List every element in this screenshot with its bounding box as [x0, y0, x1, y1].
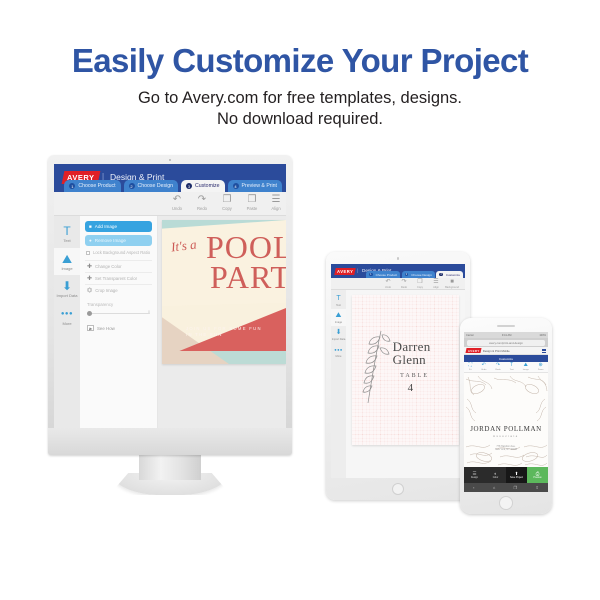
design-subtext[interactable]: JOIN US FOR SOME FUN IN THE SUN: [186, 326, 262, 338]
phone-action-bar: ☰ Design ◐ Color ⬆ Save Project ⎙ Previe…: [464, 467, 548, 483]
carrier-label: Carrier: [466, 334, 474, 337]
app-toolbar: ↶ Undo ↷ Redo ❐ Copy ❐ Paste: [54, 192, 286, 216]
tab-choose-product[interactable]: 1 Choose Product: [366, 271, 400, 278]
tab-label: Choose Design: [411, 273, 432, 277]
rail-label: Image: [54, 267, 80, 272]
avery-logo[interactable]: AVERY: [465, 348, 481, 353]
slider-knob[interactable]: [87, 311, 92, 316]
phone-tool-text[interactable]: T Text: [510, 363, 514, 371]
text-tool-icon: T: [54, 225, 80, 238]
tablet-step-tabs: 1 Choose Product 2 Choose Design 3 Custo…: [366, 271, 463, 278]
tool-label: Text: [510, 369, 514, 371]
crop-image-row[interactable]: ⏣ Crop Image: [85, 284, 152, 296]
tab-choose-design[interactable]: 2 Choose Design: [124, 180, 178, 192]
more-icon: ●●●: [331, 346, 346, 354]
phone-action-preview[interactable]: ⎙ Preview: [527, 467, 548, 483]
image-tool-icon: ⛰: [54, 253, 80, 266]
back-icon[interactable]: ‹: [473, 485, 474, 490]
toolbar-label: Align: [261, 206, 286, 211]
design-canvas[interactable]: It's a POOL PARTY JOIN US FOR SOME FUN I…: [158, 216, 286, 428]
text-icon: T: [510, 363, 514, 369]
import-data-icon: ⬇: [54, 280, 80, 293]
botanical-illustration-icon: [464, 373, 548, 467]
tab-customize[interactable]: 3 Customize: [436, 271, 463, 278]
zoom-icon: ⊕: [538, 363, 544, 369]
tablet-app-header: AVERY | Design & Print 1 Choose Product …: [331, 264, 465, 278]
monitor-stand-neck: [139, 452, 201, 480]
tool-label: Redo: [495, 369, 500, 371]
rail-label: More: [331, 355, 346, 358]
save-icon: ⬆: [515, 471, 519, 476]
play-icon: ▶: [87, 325, 94, 331]
redo-icon: ↷: [495, 363, 500, 369]
rail-item-text[interactable]: T Text: [54, 220, 80, 248]
phone-tool-fit[interactable]: ⛶ Fit: [469, 363, 473, 371]
phone-tool-undo[interactable]: ↶ Undo: [481, 363, 486, 371]
webcam-icon: [169, 159, 171, 161]
rail-item-image[interactable]: ⛰ Image: [54, 248, 80, 276]
align-icon: ☰: [261, 194, 286, 206]
design-icon: ☰: [472, 471, 476, 476]
promo-graphic: Easily Customize Your Project Go to Aver…: [0, 0, 600, 600]
phone-tool-redo[interactable]: ↷ Redo: [495, 363, 500, 371]
transparency-label: Transparency: [87, 302, 150, 307]
phone-action-color[interactable]: ◐ Color: [485, 467, 506, 483]
rail-label: Text: [54, 239, 80, 244]
tablet-body: AVERY | Design & Print 1 Choose Product …: [326, 252, 470, 500]
action-label: Preview: [533, 477, 541, 479]
page-subtitle: Go to Avery.com for free templates, desi…: [0, 88, 600, 130]
change-color-label: Change Color: [95, 264, 122, 269]
transparency-value: 0: [148, 310, 150, 314]
tab-label: Choose Product: [78, 183, 115, 189]
action-label: Color: [493, 477, 499, 479]
app-header: AVERY | Design & Print 1 Choose Product …: [54, 164, 286, 192]
crop-image-label: Crop Image: [95, 288, 117, 293]
tool-label: Zoom: [538, 369, 544, 371]
phone-speaker-icon: [497, 325, 515, 327]
action-label: Save Project: [510, 477, 523, 479]
checkbox-box-icon: [86, 251, 90, 255]
subtitle-line-2: No download required.: [0, 109, 600, 130]
step-tabs: 1 Choose Product 2 Choose Design 3 Custo…: [64, 180, 282, 192]
tab-label: Customize: [195, 183, 220, 189]
tab-number: 2: [405, 273, 409, 277]
toolbar-align[interactable]: ☰ Align: [261, 194, 286, 211]
clock-label: 9:41 AM: [502, 334, 512, 337]
fern-illustration-icon: [361, 329, 393, 407]
design-subtext-line-2: IN THE SUN: [186, 332, 262, 338]
tab-label: Choose Product: [376, 273, 398, 277]
tool-label: Fit: [469, 369, 473, 371]
lock-aspect-label: Lock Background Aspect Ratio: [93, 250, 150, 255]
phone-app-bar: AVERY Design & Print Mobile: [464, 347, 548, 355]
background-icon: ■: [443, 279, 461, 286]
rail-item-import-data[interactable]: ⬇ Import Data: [54, 275, 80, 303]
tab-label: Choose Design: [138, 183, 173, 189]
tab-number: 1: [69, 183, 75, 189]
browser-url-bar[interactable]: avery.com/print-and-design: [464, 338, 548, 347]
lock-aspect-checkbox[interactable]: Lock Background Aspect Ratio: [86, 250, 151, 255]
share-icon[interactable]: ⇧: [535, 485, 538, 490]
business-card-design[interactable]: JORDAN POLLMAN Associate 778 Hamilton Av…: [464, 373, 548, 467]
rail-label: Image: [331, 321, 346, 324]
tablet-design-canvas[interactable]: Darren Glenn TABLE 4: [346, 290, 465, 478]
add-image-button[interactable]: ■ Add Image: [85, 221, 152, 232]
subtitle-line-1: Go to Avery.com for free templates, desi…: [0, 88, 600, 109]
tablet-tool-rail: T Text ⛰ Image ⬇ Import Data ●●●: [331, 290, 346, 478]
design-its-a-text[interactable]: It's a: [170, 237, 197, 256]
rail-label: Import Data: [54, 294, 80, 299]
monitor-screen: AVERY | Design & Print 1 Choose Product …: [54, 164, 286, 428]
tablet-device: AVERY | Design & Print 1 Choose Product …: [326, 252, 470, 500]
tab-number: 4: [233, 183, 239, 189]
remove-image-button[interactable]: ● Remove Image: [85, 235, 152, 246]
toolbar-background[interactable]: ■ Background: [443, 279, 461, 289]
tab-choose-product[interactable]: 1 Choose Product: [64, 180, 120, 192]
crop-icon: ⏣: [87, 287, 92, 294]
tab-label: Customize: [446, 273, 460, 277]
tab-preview-print[interactable]: 4 Preview & Print: [228, 180, 282, 192]
tablet-screen: AVERY | Design & Print 1 Choose Product …: [331, 264, 465, 478]
phone-screen: Carrier 9:41 AM 100% avery.com/print-and…: [464, 332, 548, 492]
design-party-text[interactable]: PARTY: [210, 262, 286, 292]
tab-number: 3: [439, 273, 443, 277]
page-title: Easily Customize Your Project: [0, 42, 600, 80]
monitor-bezel: AVERY | Design & Print 1 Choose Product …: [48, 155, 292, 455]
phone-device: Carrier 9:41 AM 100% avery.com/print-and…: [460, 318, 552, 514]
avery-logo-text: AVERY: [468, 349, 480, 353]
add-image-label: Add Image: [95, 224, 117, 229]
color-wheel-icon: ✚: [87, 263, 92, 270]
fit-icon: ⛶: [469, 363, 473, 369]
phone-section-bar[interactable]: Customize: [464, 355, 548, 362]
more-icon: ●●●: [54, 308, 80, 321]
tab-number: 1: [369, 273, 373, 277]
rail-item-image[interactable]: ⛰ Image: [331, 309, 346, 326]
pool-party-design[interactable]: It's a POOL PARTY JOIN US FOR SOME FUN I…: [162, 220, 286, 364]
tablet-home-button[interactable]: [392, 483, 404, 495]
tab-label: Preview & Print: [242, 183, 277, 189]
rail-item-more[interactable]: ●●● More: [54, 303, 80, 331]
rail-item-import-data[interactable]: ⬇ Import Data: [331, 326, 346, 343]
image-icon: ⛰: [523, 363, 529, 369]
phone-action-save-project[interactable]: ⬆ Save Project: [506, 467, 527, 483]
tabs-icon[interactable]: ❐: [514, 485, 518, 490]
preview-icon: ⎙: [536, 471, 540, 476]
change-color-row[interactable]: ✚ Change Color: [85, 260, 152, 272]
business-card-name[interactable]: JORDAN POLLMAN: [464, 425, 548, 433]
phone-icon-row: ⛶ Fit ↶ Undo ↷ Redo T Text: [464, 362, 548, 373]
desktop-monitor: AVERY | Design & Print 1 Choose Product …: [48, 155, 292, 455]
tool-rail: T Text ⛰ Image ⬇ Import Data ●●●: [54, 216, 80, 428]
url-input[interactable]: avery.com/print-and-design: [467, 340, 545, 346]
logo-separator: |: [357, 268, 358, 273]
set-transparent-color-label: Set Transparent Color: [95, 276, 137, 281]
battery-label: 100%: [539, 334, 546, 337]
phone-app-name: Design & Print Mobile: [483, 349, 510, 353]
slider-track: [87, 313, 150, 314]
tablet-toolbar: ↶ Undo ↷ Redo ❐ Copy ☰ Align: [331, 278, 465, 290]
avery-logo[interactable]: AVERY: [334, 268, 356, 275]
phone-body: Carrier 9:41 AM 100% avery.com/print-and…: [460, 318, 552, 514]
rail-label: More: [54, 322, 80, 327]
phone-tool-zoom[interactable]: ⊕ Zoom: [538, 363, 544, 371]
address-line-2: New York, NY 10028: [464, 448, 548, 451]
rail-item-text[interactable]: T Text: [331, 292, 346, 309]
image-tool-icon: ⛰: [331, 312, 346, 320]
tab-choose-design[interactable]: 2 Choose Design: [402, 271, 435, 278]
rail-label: Import Data: [331, 338, 346, 341]
business-card-address[interactable]: 778 Hamilton Ave. New York, NY 10028: [464, 445, 548, 452]
transparency-slider[interactable]: 0: [87, 310, 150, 318]
place-card-table-label[interactable]: TABLE: [400, 373, 429, 379]
rail-label: Text: [331, 304, 346, 307]
design-pool-text[interactable]: POOL: [206, 232, 286, 262]
place-card-name-line-2[interactable]: Glenn: [393, 352, 426, 368]
tablet-camera-icon: [397, 257, 400, 260]
action-label: Design: [471, 477, 478, 479]
see-how-label: See How: [97, 326, 115, 331]
tab-number: 3: [186, 183, 192, 189]
avery-logo-text: AVERY: [337, 269, 353, 274]
properties-panel: ■ Add Image ● Remove Image Lock Backgrou…: [80, 216, 158, 428]
phone-tool-image[interactable]: ⛰ Image: [523, 363, 529, 371]
transparent-color-icon: ✚: [87, 275, 92, 282]
remove-image-icon: ●: [89, 238, 92, 243]
tablet-app-body: T Text ⛰ Image ⬇ Import Data ●●●: [331, 290, 465, 478]
import-data-icon: ⬇: [331, 329, 346, 337]
remove-image-label: Remove Image: [95, 238, 126, 243]
place-card-design[interactable]: Darren Glenn TABLE 4: [352, 295, 459, 445]
text-tool-icon: T: [331, 295, 346, 303]
tab-number: 2: [129, 183, 135, 189]
set-transparent-color-row[interactable]: ✚ Set Transparent Color: [85, 272, 152, 284]
place-card-table-number[interactable]: 4: [408, 382, 414, 394]
business-card-role[interactable]: Associate: [464, 435, 548, 438]
tab-customize[interactable]: 3 Customize: [181, 180, 225, 192]
tool-label: Image: [523, 369, 529, 371]
image-icon: ■: [89, 224, 92, 229]
toolbar-label: Background: [443, 286, 461, 289]
undo-icon: ↶: [481, 363, 486, 369]
hamburger-menu-icon[interactable]: [542, 349, 546, 353]
color-icon: ◐: [494, 471, 497, 476]
phone-home-button[interactable]: [499, 496, 513, 510]
monitor-chin: [48, 428, 292, 455]
app-body: T Text ⛰ Image ⬇ Import Data ●●●: [54, 216, 286, 428]
rail-item-more[interactable]: ●●● More: [331, 343, 346, 360]
tool-label: Undo: [481, 369, 486, 371]
home-icon[interactable]: ⌂: [493, 485, 495, 490]
see-how-button[interactable]: ▶ See How: [87, 325, 150, 331]
phone-browser-nav: ‹ ⌂ ❐ ⇧: [464, 483, 548, 492]
phone-action-design[interactable]: ☰ Design: [464, 467, 485, 483]
